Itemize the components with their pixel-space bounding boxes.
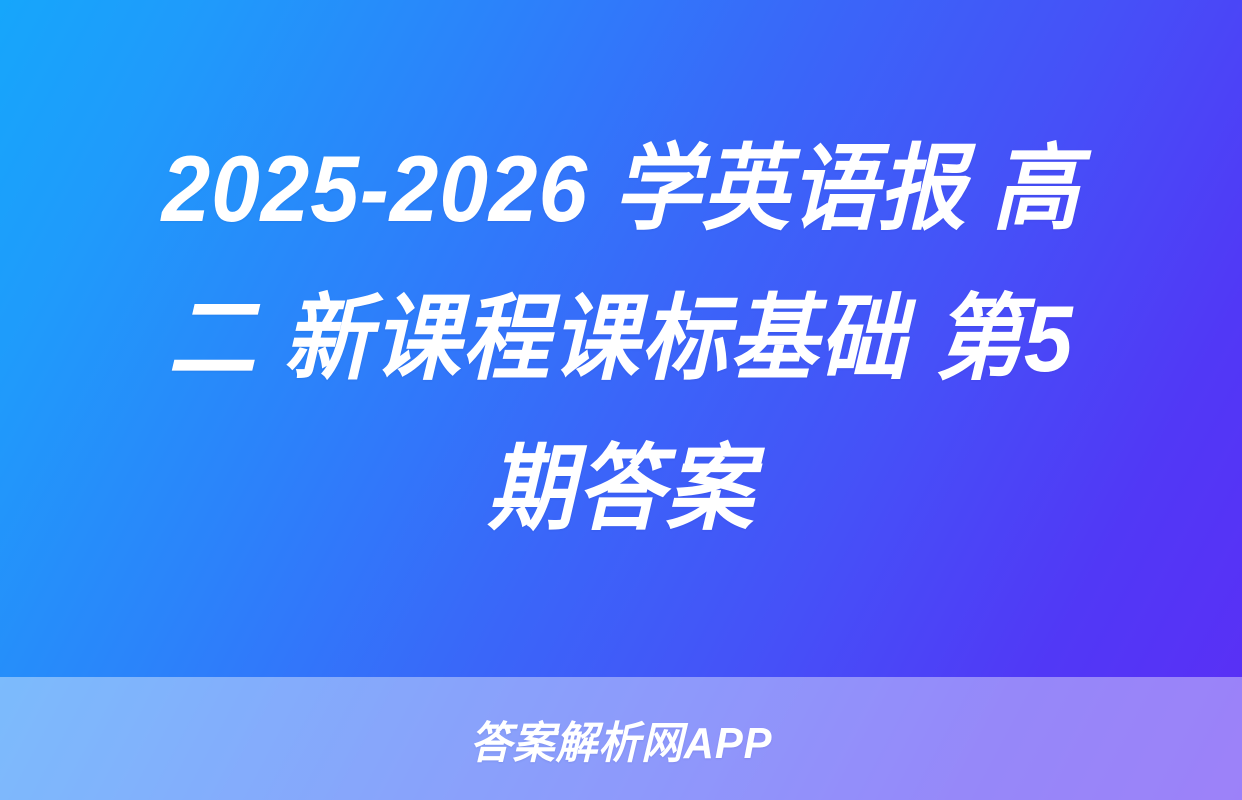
title-block: 2025-2026 学英语报 高 二 新课程课标基础 第5 期答案: [0, 0, 1242, 677]
app-brand-label: 答案解析网APP: [470, 707, 773, 771]
footer-brand-band: 答案解析网APP: [0, 677, 1242, 800]
title-line-1: 2025-2026 学英语报 高: [162, 114, 1081, 264]
title-line-3: 期答案: [487, 414, 755, 564]
answer-key-title-card: 2025-2026 学英语报 高 二 新课程课标基础 第5 期答案 答案解析网A…: [0, 0, 1242, 800]
title-line-2: 二 新课程课标基础 第5: [168, 264, 1074, 414]
